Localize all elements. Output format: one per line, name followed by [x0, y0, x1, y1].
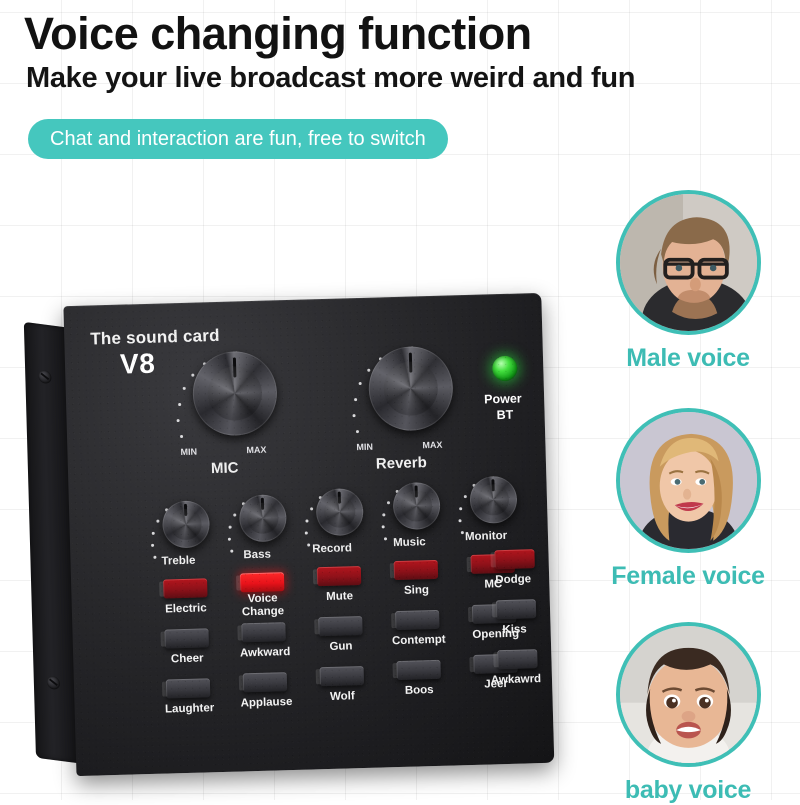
button-label-wolf: Wolf: [314, 690, 370, 704]
knob-bass[interactable]: Bass: [239, 494, 287, 542]
button-electric[interactable]: [163, 578, 208, 598]
voice-card-male[interactable]: Male voice: [588, 190, 788, 373]
knob-label-treble: Treble: [161, 555, 195, 568]
male-portrait: [616, 190, 761, 335]
led-label-bt: BT: [496, 408, 513, 422]
knob-label-music: Music: [393, 536, 426, 549]
button-wolf[interactable]: [320, 666, 365, 686]
button-contempt[interactable]: [395, 610, 440, 630]
voice-card-label: Female voice: [588, 562, 788, 591]
button-label-awkawrd: Awkawrd: [484, 673, 548, 687]
knob-record[interactable]: Record: [316, 488, 364, 536]
voice-card-label: Male voice: [588, 344, 788, 373]
button-label-boos: Boos: [391, 684, 447, 698]
button-boos[interactable]: [396, 660, 441, 680]
button-label-gun: Gun: [313, 640, 369, 654]
button-label-contempt: Contempt: [386, 634, 452, 648]
knob-label-mic: MIC: [211, 459, 239, 477]
device-front-panel: The sound card V8 MIN MAX MIC: [63, 293, 554, 776]
screw-icon: [38, 370, 51, 385]
knob-min-label: MIN: [356, 442, 373, 452]
button-label-cheer: Cheer: [159, 652, 215, 666]
voice-card-female[interactable]: Female voice: [588, 408, 788, 591]
knob-label-monitor: Monitor: [465, 530, 507, 543]
button-dodge[interactable]: [494, 549, 535, 569]
button-applause[interactable]: [243, 672, 288, 692]
tagline-pill: Chat and interaction are fun, free to sw…: [28, 119, 448, 159]
screw-icon: [47, 675, 60, 690]
knob-music[interactable]: Music: [392, 482, 440, 530]
knob-mic[interactable]: MIN MAX MIC: [192, 350, 278, 436]
button-voice-change[interactable]: [240, 572, 285, 592]
page-title: Voice changing function: [24, 8, 532, 60]
button-label-dodge: Dodge: [485, 573, 541, 587]
led-label-power: Power: [484, 391, 522, 406]
button-cheer[interactable]: [164, 628, 209, 648]
device-model: V8: [120, 348, 156, 381]
baby-portrait: [616, 622, 761, 767]
button-gun[interactable]: [318, 616, 363, 636]
knob-min-label: MIN: [180, 447, 197, 457]
button-label-awkward: Awkward: [234, 646, 296, 660]
knob-max-label: MAX: [246, 445, 266, 456]
button-label-voice-change: VoiceChange: [234, 592, 291, 619]
button-awkward[interactable]: [241, 622, 286, 642]
button-awkawrd[interactable]: [497, 649, 538, 669]
knob-label-bass: Bass: [243, 549, 271, 562]
voice-card-baby[interactable]: baby voice: [588, 622, 788, 805]
knob-treble[interactable]: Treble: [162, 500, 210, 548]
button-label-kiss: Kiss: [486, 623, 542, 637]
button-label-sing: Sing: [388, 584, 444, 598]
button-label-electric: Electric: [158, 602, 214, 616]
knob-label-record: Record: [312, 542, 352, 555]
button-mute[interactable]: [317, 566, 362, 586]
knob-monitor[interactable]: Monitor: [469, 476, 517, 524]
button-label-mute: Mute: [311, 590, 367, 604]
button-label-laughter: Laughter: [159, 702, 221, 716]
page-subtitle: Make your live broadcast more weird and …: [26, 62, 635, 95]
device-brand: The sound card: [90, 326, 220, 350]
female-portrait: [616, 408, 761, 553]
button-sing[interactable]: [394, 560, 439, 580]
knob-label-reverb: Reverb: [376, 454, 427, 472]
button-laughter[interactable]: [166, 678, 211, 698]
power-bt-led-icon: [492, 356, 518, 382]
voice-card-label: baby voice: [588, 776, 788, 805]
knob-max-label: MAX: [422, 440, 442, 451]
button-kiss[interactable]: [496, 599, 537, 619]
button-label-applause: Applause: [235, 696, 297, 710]
sound-card-device: The sound card V8 MIN MAX MIC: [23, 293, 556, 787]
knob-reverb[interactable]: MIN MAX Reverb: [368, 345, 454, 431]
